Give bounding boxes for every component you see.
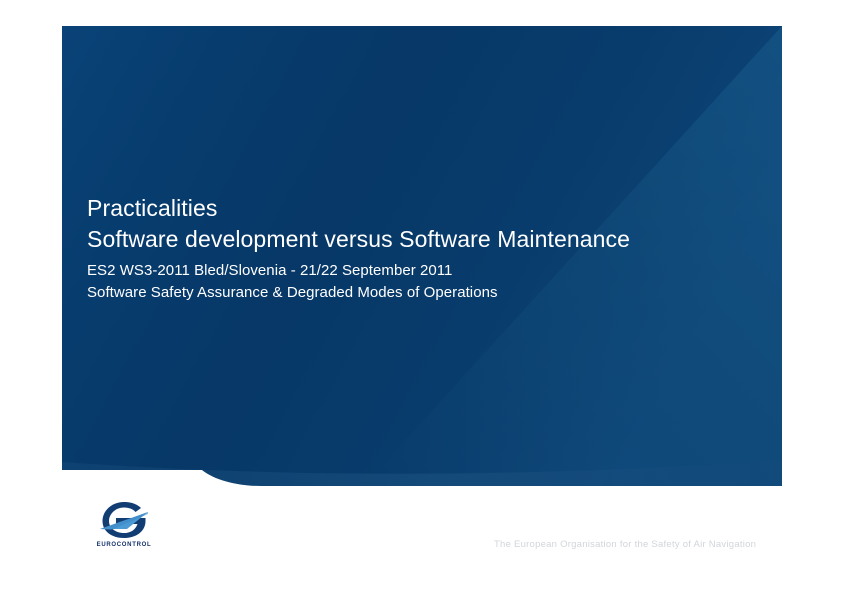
eurocontrol-wordmark: EUROCONTROL	[88, 542, 160, 548]
presentation-slide: Practicalities Software development vers…	[0, 0, 842, 595]
slide-subtitle-event: ES2 WS3-2011 Bled/Slovenia - 21/22 Septe…	[87, 260, 747, 282]
eurocontrol-emblem-icon	[96, 500, 152, 540]
title-block: Practicalities Software development vers…	[87, 193, 747, 303]
slide-title-primary: Practicalities	[87, 193, 747, 224]
slide-footer: EUROCONTROL The European Organisation fo…	[0, 495, 842, 595]
slide-subtitle-topic: Software Safety Assurance & Degraded Mod…	[87, 282, 747, 304]
eurocontrol-logo: EUROCONTROL	[88, 500, 160, 558]
footer-tagline: The European Organisation for the Safety…	[494, 539, 756, 550]
slide-title-secondary: Software development versus Software Mai…	[87, 224, 747, 255]
